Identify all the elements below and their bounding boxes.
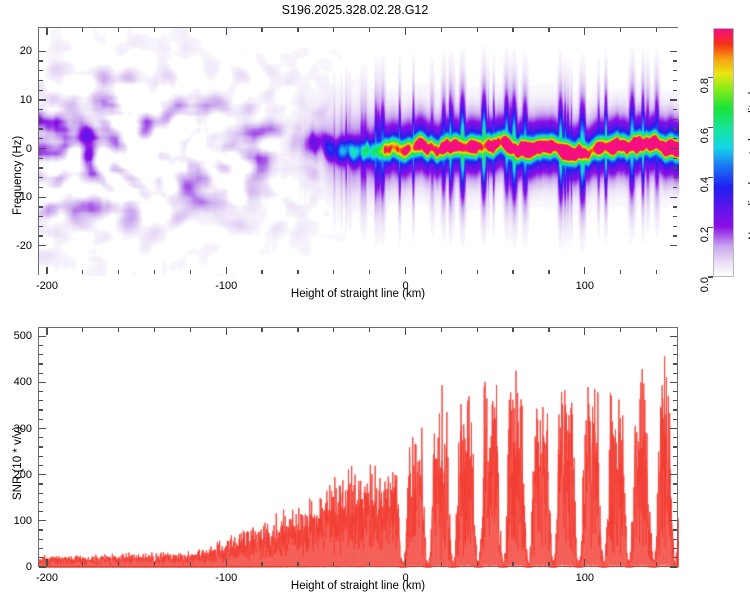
snr-y-minor-tick-right <box>673 391 677 392</box>
snr-x-minor-tick <box>477 562 478 566</box>
snr-y-minor-tick-right <box>673 419 677 420</box>
snr-x-minor-tick <box>369 562 370 566</box>
spectrogram-x-minor-tick-top <box>261 28 262 32</box>
snr-y-minor-tick <box>39 409 43 410</box>
spectrogram-x-axis-title: Height of straight line (km) <box>291 288 425 300</box>
snr-x-minor-tick <box>620 562 621 566</box>
snr-y-major-tick-right <box>670 428 677 429</box>
spectrogram-x-tick-label: 100 <box>576 280 594 292</box>
snr-x-minor-tick-top <box>512 328 513 332</box>
snr-x-minor-tick-top <box>261 328 262 332</box>
snr-y-minor-tick-right <box>673 345 677 346</box>
snr-y-minor-tick <box>39 465 43 466</box>
snr-y-major-tick <box>39 428 46 429</box>
snr-x-minor-tick-top <box>656 328 657 332</box>
snr-y-minor-tick <box>39 456 43 457</box>
spectrogram-x-major-tick <box>584 267 585 274</box>
snr-x-minor-tick-top <box>477 328 478 332</box>
snr-x-major-tick-top <box>584 328 585 335</box>
spectrogram-x-minor-tick-top <box>82 28 83 32</box>
spectrogram-y-minor-tick-right <box>673 70 677 71</box>
snr-x-minor-tick <box>441 562 442 566</box>
spectrogram-y-minor-tick <box>39 216 43 217</box>
snr-y-tick-label: 100 <box>2 515 32 527</box>
spectrogram-y-minor-tick <box>39 60 43 61</box>
snr-x-minor-tick <box>333 562 334 566</box>
snr-y-minor-tick-right <box>673 437 677 438</box>
spectrogram-x-major-tick-top <box>226 28 227 35</box>
spectrogram-x-minor-tick-top <box>297 28 298 32</box>
spectrogram-x-major-tick-top <box>584 28 585 35</box>
snr-x-minor-tick-top <box>190 328 191 332</box>
snr-y-minor-tick-right <box>673 557 677 558</box>
snr-y-minor-tick-right <box>673 502 677 503</box>
spectrogram-x-minor-tick <box>118 270 119 274</box>
spectrogram-panel <box>38 27 678 275</box>
snr-y-minor-tick <box>39 502 43 503</box>
spectrogram-y-minor-tick-right <box>673 235 677 236</box>
snr-y-minor-tick-right <box>673 529 677 530</box>
snr-y-minor-tick <box>39 557 43 558</box>
spectrogram-x-major-tick <box>46 267 47 274</box>
spectrogram-y-minor-tick-right <box>673 158 677 159</box>
spectrogram-y-minor-tick-right <box>673 216 677 217</box>
snr-y-tick-label: 0 <box>2 561 32 573</box>
spectrogram-y-major-tick <box>39 148 46 149</box>
snr-y-minor-tick-right <box>673 548 677 549</box>
spectrogram-x-tick-label: -100 <box>215 280 237 292</box>
spectrogram-x-major-tick <box>226 267 227 274</box>
snr-x-major-tick-top <box>405 328 406 335</box>
snr-x-major-tick <box>46 559 47 566</box>
snr-y-minor-tick <box>39 548 43 549</box>
snr-y-minor-tick <box>39 419 43 420</box>
spectrogram-x-minor-tick <box>369 270 370 274</box>
spectrogram-y-minor-tick <box>39 80 43 81</box>
snr-x-major-tick <box>405 559 406 566</box>
spectrogram-x-minor-tick-top <box>118 28 119 32</box>
snr-y-minor-tick <box>39 483 43 484</box>
spectrogram-y-major-tick <box>39 245 46 246</box>
spectrogram-x-minor-tick-top <box>620 28 621 32</box>
colorbar-gradient <box>713 28 734 277</box>
snr-x-minor-tick-top <box>369 328 370 332</box>
snr-y-minor-tick-right <box>673 373 677 374</box>
snr-y-minor-tick <box>39 446 43 447</box>
snr-x-minor-tick-top <box>620 328 621 332</box>
spectrogram-y-major-tick <box>39 197 46 198</box>
snr-y-major-tick-right <box>670 382 677 383</box>
spectrogram-y-minor-tick-right <box>673 206 677 207</box>
snr-y-major-tick <box>39 520 46 521</box>
spectrogram-x-minor-tick <box>656 270 657 274</box>
spectrogram-y-minor-tick <box>39 177 43 178</box>
spectrogram-x-minor-tick-top <box>512 28 513 32</box>
snr-x-minor-tick <box>82 562 83 566</box>
spectrogram-y-major-tick-right <box>670 51 677 52</box>
spectrogram-y-minor-tick <box>39 138 43 139</box>
spectrogram-y-minor-tick-right <box>673 226 677 227</box>
snr-panel <box>38 327 678 567</box>
snr-x-tick-label: 100 <box>576 572 594 584</box>
spectrogram-y-minor-tick <box>39 119 43 120</box>
spectrogram-x-minor-tick-top <box>477 28 478 32</box>
spectrogram-y-major-tick-right <box>670 148 677 149</box>
snr-y-minor-tick-right <box>673 363 677 364</box>
spectrogram-y-minor-tick-right <box>673 187 677 188</box>
snr-x-minor-tick <box>512 562 513 566</box>
spectrogram-x-tick-label: -200 <box>36 280 58 292</box>
snr-x-minor-tick-top <box>154 328 155 332</box>
snr-x-tick-label: -100 <box>215 572 237 584</box>
spectrogram-x-minor-tick <box>548 270 549 274</box>
snr-x-major-tick <box>584 559 585 566</box>
spectrogram-canvas <box>39 28 679 276</box>
spectrogram-x-minor-tick <box>190 270 191 274</box>
snr-y-minor-tick-right <box>673 483 677 484</box>
spectrogram-y-minor-tick <box>39 187 43 188</box>
snr-y-minor-tick-right <box>673 456 677 457</box>
spectrogram-y-major-tick-right <box>670 245 677 246</box>
snr-x-major-tick <box>226 559 227 566</box>
spectrogram-x-major-tick <box>405 267 406 274</box>
snr-y-minor-tick <box>39 437 43 438</box>
spectrogram-x-minor-tick-top <box>656 28 657 32</box>
figure-root: S196.2025.328.02.28.G12 20100-10-20-200-… <box>0 0 750 600</box>
snr-x-minor-tick <box>154 562 155 566</box>
spectrogram-y-minor-tick <box>39 90 43 91</box>
snr-x-minor-tick <box>118 562 119 566</box>
spectrogram-x-minor-tick-top <box>154 28 155 32</box>
spectrogram-y-minor-tick <box>39 128 43 129</box>
snr-y-major-tick <box>39 382 46 383</box>
spectrogram-x-minor-tick <box>477 270 478 274</box>
spectrogram-x-major-tick-top <box>46 28 47 35</box>
snr-x-minor-tick-top <box>82 328 83 332</box>
snr-x-minor-tick <box>548 562 549 566</box>
spectrogram-y-minor-tick <box>39 235 43 236</box>
snr-y-minor-tick <box>39 529 43 530</box>
spectrogram-y-tick-label: 20 <box>2 45 32 57</box>
snr-y-tick-label: 500 <box>2 330 32 342</box>
spectrogram-x-minor-tick <box>441 270 442 274</box>
snr-y-major-tick-right <box>670 336 677 337</box>
spectrogram-x-minor-tick <box>512 270 513 274</box>
spectrogram-x-major-tick-top <box>405 28 406 35</box>
spectrogram-y-minor-tick <box>39 109 43 110</box>
snr-y-minor-tick <box>39 354 43 355</box>
spectrogram-y-minor-tick-right <box>673 60 677 61</box>
spectrogram-y-minor-tick-right <box>673 90 677 91</box>
snr-y-minor-tick <box>39 400 43 401</box>
snr-y-minor-tick <box>39 493 43 494</box>
spectrogram-y-minor-tick-right <box>673 109 677 110</box>
snr-x-minor-tick-top <box>548 328 549 332</box>
spectrogram-y-minor-tick-right <box>673 80 677 81</box>
snr-y-minor-tick <box>39 345 43 346</box>
snr-x-minor-tick-top <box>441 328 442 332</box>
snr-y-minor-tick-right <box>673 446 677 447</box>
spectrogram-x-minor-tick-top <box>369 28 370 32</box>
spectrogram-y-major-tick-right <box>670 197 677 198</box>
snr-y-major-tick-right <box>670 566 677 567</box>
spectrogram-y-minor-tick <box>39 158 43 159</box>
snr-y-minor-tick-right <box>673 539 677 540</box>
snr-y-major-tick-right <box>670 474 677 475</box>
spectrogram-y-minor-tick <box>39 70 43 71</box>
snr-y-minor-tick <box>39 373 43 374</box>
spectrogram-y-minor-tick-right <box>673 167 677 168</box>
spectrogram-y-major-tick <box>39 99 46 100</box>
spectrogram-y-axis-title: Frequency (Hz) <box>12 136 24 215</box>
snr-x-minor-tick <box>261 562 262 566</box>
spectrogram-y-minor-tick <box>39 206 43 207</box>
snr-y-major-tick <box>39 336 46 337</box>
snr-y-minor-tick-right <box>673 400 677 401</box>
spectrogram-y-tick-label: 10 <box>2 94 32 106</box>
snr-y-minor-tick-right <box>673 465 677 466</box>
spectrogram-y-minor-tick <box>39 226 43 227</box>
snr-x-minor-tick <box>297 562 298 566</box>
colorbar-tick-label: 0.2 <box>699 227 711 242</box>
spectrogram-x-minor-tick <box>82 270 83 274</box>
snr-y-major-tick <box>39 474 46 475</box>
colorbar-tick-label: 0.4 <box>699 177 711 192</box>
snr-x-minor-tick-top <box>333 328 334 332</box>
colorbar-tick-label: 0.0 <box>699 277 711 292</box>
colorbar-tick-label: 0.6 <box>699 128 711 143</box>
spectrogram-y-major-tick <box>39 51 46 52</box>
snr-y-minor-tick-right <box>673 354 677 355</box>
snr-y-major-tick-right <box>670 520 677 521</box>
snr-x-minor-tick <box>656 562 657 566</box>
snr-x-major-tick-top <box>226 328 227 335</box>
snr-x-minor-tick-top <box>297 328 298 332</box>
snr-canvas <box>39 328 679 568</box>
snr-y-tick-label: 400 <box>2 376 32 388</box>
spectrogram-y-major-tick-right <box>670 99 677 100</box>
snr-y-axis-title: SNR (10 * v/v) <box>12 427 24 501</box>
snr-y-minor-tick-right <box>673 409 677 410</box>
snr-y-minor-tick-right <box>673 511 677 512</box>
spectrogram-y-minor-tick <box>39 167 43 168</box>
snr-x-major-tick-top <box>46 328 47 335</box>
spectrogram-x-minor-tick <box>261 270 262 274</box>
spectrogram-x-minor-tick-top <box>190 28 191 32</box>
snr-y-minor-tick <box>39 391 43 392</box>
spectrogram-y-minor-tick-right <box>673 177 677 178</box>
spectrogram-y-minor-tick-right <box>673 128 677 129</box>
snr-y-major-tick <box>39 566 46 567</box>
spectrogram-x-minor-tick <box>620 270 621 274</box>
spectrogram-x-minor-tick-top <box>441 28 442 32</box>
colorbar <box>713 28 734 277</box>
spectrogram-x-minor-tick <box>297 270 298 274</box>
spectrogram-y-minor-tick-right <box>673 119 677 120</box>
snr-y-minor-tick <box>39 363 43 364</box>
snr-x-axis-title: Height of straight line (km) <box>291 580 425 592</box>
snr-y-minor-tick-right <box>673 493 677 494</box>
spectrogram-x-minor-tick-top <box>548 28 549 32</box>
spectrogram-y-tick-label: -20 <box>2 240 32 252</box>
figure-title: S196.2025.328.02.28.G12 <box>0 3 710 17</box>
snr-x-tick-label: -200 <box>36 572 58 584</box>
spectrogram-x-minor-tick-top <box>333 28 334 32</box>
spectrogram-x-minor-tick <box>154 270 155 274</box>
snr-y-minor-tick <box>39 539 43 540</box>
snr-x-minor-tick <box>190 562 191 566</box>
colorbar-tick-label: 0.8 <box>699 78 711 93</box>
spectrogram-x-minor-tick <box>333 270 334 274</box>
snr-x-minor-tick-top <box>118 328 119 332</box>
spectrogram-y-minor-tick-right <box>673 138 677 139</box>
snr-y-minor-tick <box>39 511 43 512</box>
